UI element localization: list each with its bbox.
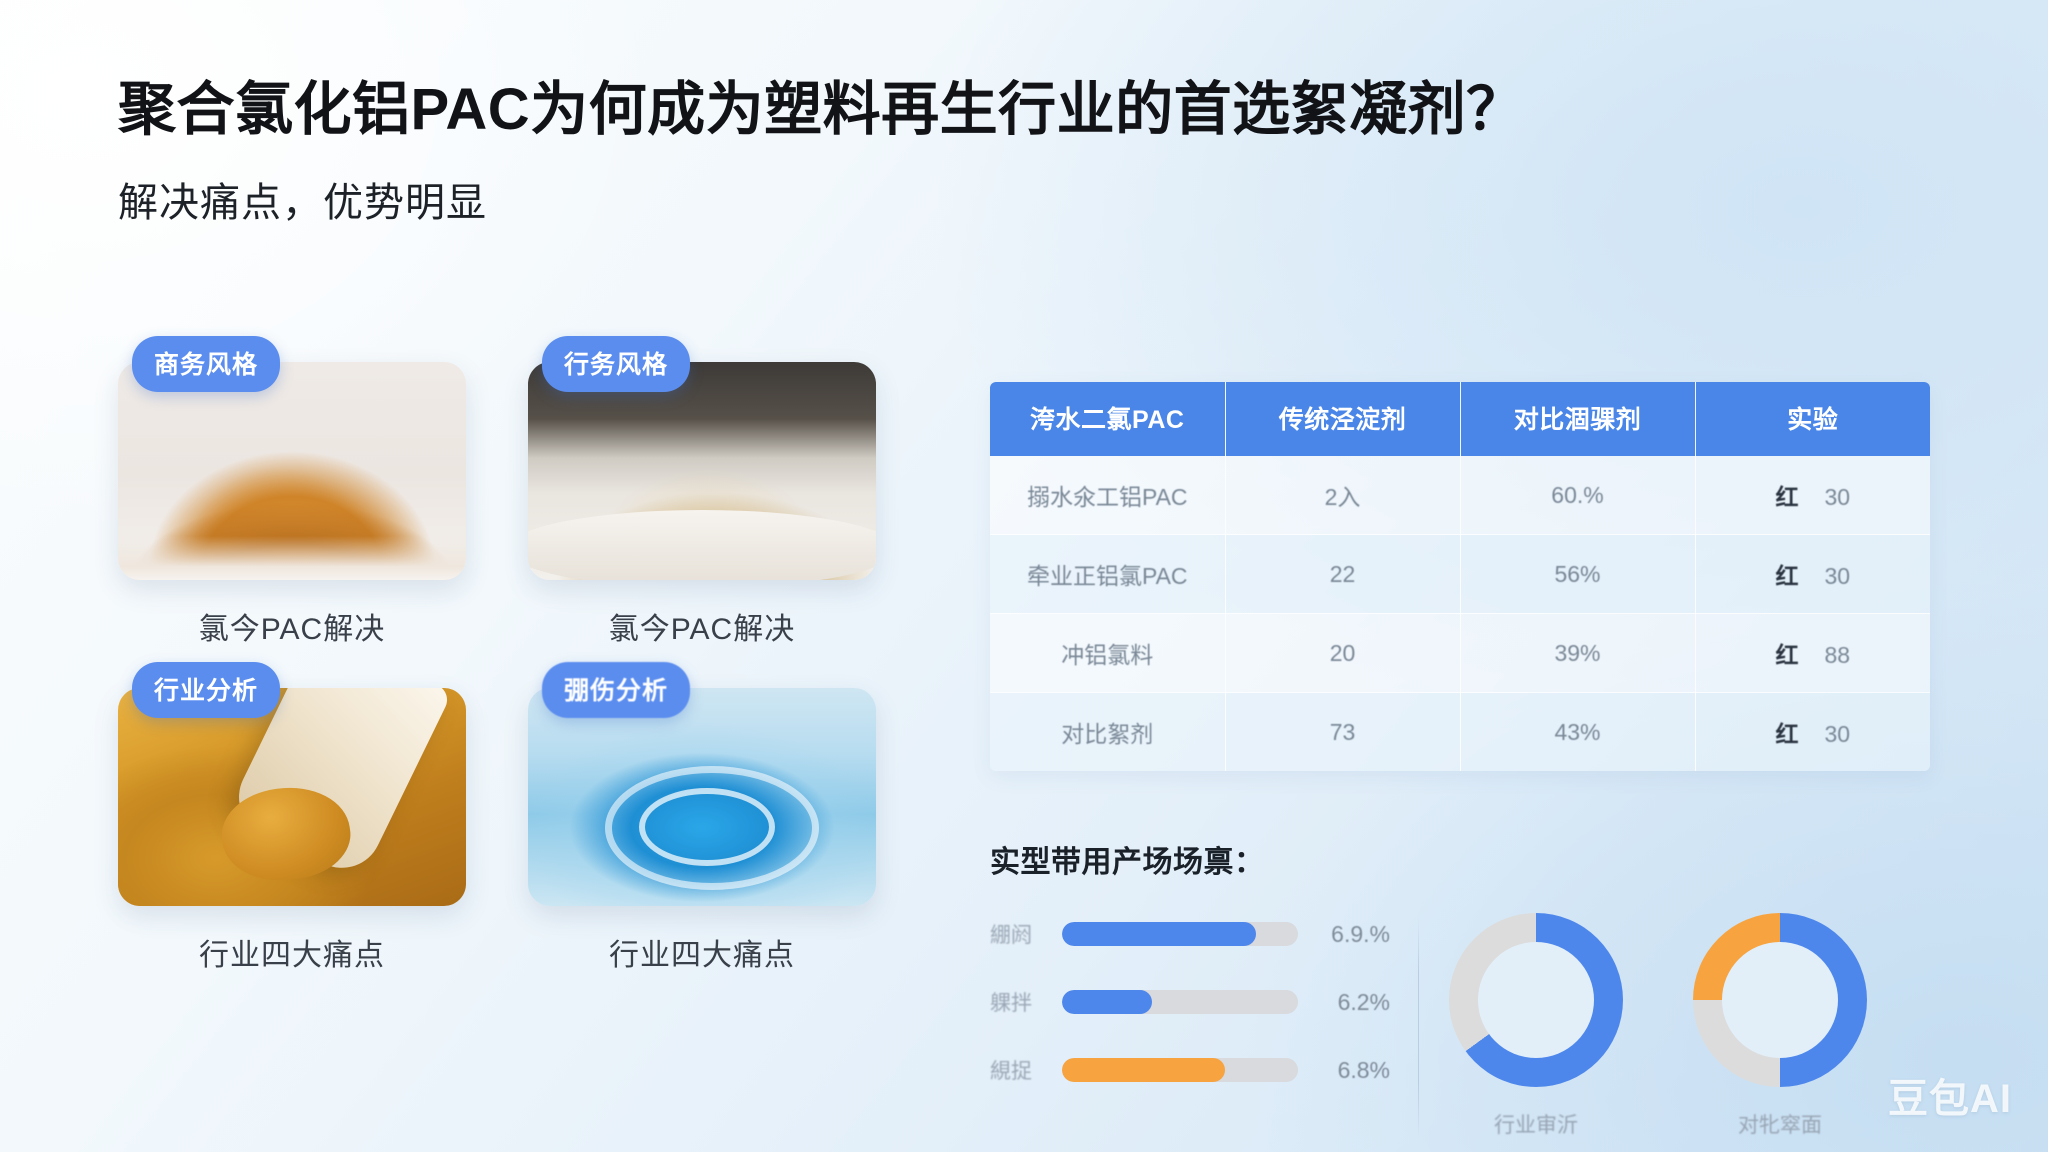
gallery-card-2[interactable]: 行务风格 氯今PAC解决 xyxy=(528,362,876,648)
thumbnail-powder-scoop[interactable] xyxy=(118,688,466,906)
section-divider xyxy=(1418,917,1419,1139)
cell-rate: 39% xyxy=(1460,614,1695,693)
table-row: 冲铝氯料 20 39% 红88 xyxy=(990,614,1930,693)
cell-dosage: 20 xyxy=(1225,614,1460,693)
bar-label: 綳阏 xyxy=(990,919,1062,949)
cell-name: 对比絮剂 xyxy=(990,693,1225,772)
page-subtitle: 解决痛点，优势明显 xyxy=(118,144,1618,228)
bar-fill xyxy=(1062,1058,1225,1082)
donut-chart-1: 行业审沂 xyxy=(1449,913,1623,1139)
bar-value: 6.8% xyxy=(1298,1057,1390,1084)
donut-chart-2: 对牝窣面 xyxy=(1693,913,1867,1139)
cell-experiment: 红30 xyxy=(1695,456,1930,535)
table-header-cell-4: 实验 xyxy=(1695,382,1930,456)
cell-name: 牵业正铝氯PAC xyxy=(990,535,1225,614)
gallery-row-1: 商务风格 氯今PAC解决 行务风格 氯今PAC解决 xyxy=(118,362,898,648)
bar-row: 綳阏 6.9.% xyxy=(990,911,1390,957)
cell-experiment-value: 88 xyxy=(1824,642,1850,668)
cell-dosage: 73 xyxy=(1225,693,1460,772)
image-gallery: 商务风格 氯今PAC解决 行务风格 氯今PAC解决 行业分析 行业四大痛点 xyxy=(118,362,898,974)
right-column: 洿水二氯PAC 传统泾淀剂 对比涸骒剂 实验 搦水氽工铝PAC 2入 60.% … xyxy=(990,382,1940,1139)
cell-experiment-lead: 红 xyxy=(1775,484,1798,510)
cell-experiment-value: 30 xyxy=(1824,721,1850,747)
thumbnail-orange-powder[interactable] xyxy=(118,362,466,580)
cell-experiment-lead: 红 xyxy=(1775,721,1798,747)
donut-label: 行业审沂 xyxy=(1449,1109,1623,1139)
donut-hole xyxy=(1693,913,1867,1087)
cell-experiment-value: 30 xyxy=(1824,563,1850,589)
metrics-title: 实型带用产场场禀： xyxy=(990,837,1940,881)
photo-blue-water-swirl xyxy=(528,688,876,906)
bar-label: 絸捉 xyxy=(990,1055,1062,1085)
watermark: 豆包AI xyxy=(1888,1066,2012,1124)
card-caption-2: 氯今PAC解决 xyxy=(528,580,876,648)
table-header-cell-1: 洿水二氯PAC xyxy=(990,382,1225,456)
cell-experiment: 红88 xyxy=(1695,614,1930,693)
bar-fill xyxy=(1062,990,1152,1014)
bar-track xyxy=(1062,1058,1298,1082)
cell-name: 冲铝氯料 xyxy=(990,614,1225,693)
cell-experiment: 红30 xyxy=(1695,693,1930,772)
slide-header: 聚合氯化铝PAC为何成为塑料再生行业的首选絮凝剂？ 解决痛点，优势明显 xyxy=(118,76,1618,228)
page-title: 聚合氯化铝PAC为何成为塑料再生行业的首选絮凝剂？ xyxy=(118,76,1618,144)
photo-beige-powder-bowl xyxy=(528,362,876,580)
cell-experiment-lead: 红 xyxy=(1775,642,1798,668)
photo-powder-scoop xyxy=(118,688,466,906)
slide-canvas: 聚合氯化铝PAC为何成为塑料再生行业的首选絮凝剂？ 解决痛点，优势明显 商务风格… xyxy=(0,0,2048,1152)
cell-dosage: 22 xyxy=(1225,535,1460,614)
gallery-card-4[interactable]: 弸伤分析 行业四大痛点 xyxy=(528,688,876,974)
bar-row: 絸捉 6.8% xyxy=(990,1047,1390,1093)
table-row: 对比絮剂 73 43% 红30 xyxy=(990,693,1930,772)
cell-rate: 60.% xyxy=(1460,456,1695,535)
thumbnail-beige-powder[interactable] xyxy=(528,362,876,580)
bar-row: 躶拌 6.2% xyxy=(990,979,1390,1025)
bar-value: 6.9.% xyxy=(1298,921,1390,948)
metrics-body: 綳阏 6.9.% 躶拌 6.2% 絸捉 xyxy=(990,911,1940,1139)
cell-experiment: 红30 xyxy=(1695,535,1930,614)
bar-value: 6.2% xyxy=(1298,989,1390,1016)
cell-name: 搦水氽工铝PAC xyxy=(990,456,1225,535)
photo-orange-powder-pile xyxy=(118,362,466,580)
donut-hole xyxy=(1449,913,1623,1087)
cell-rate: 43% xyxy=(1460,693,1695,772)
donut-charts: 行业审沂 对牝窣面 xyxy=(1449,911,1867,1139)
table-header-cell-2: 传统泾淀剂 xyxy=(1225,382,1460,456)
card-badge-3: 行业分析 xyxy=(132,662,280,718)
bar-fill xyxy=(1062,922,1256,946)
card-badge-1: 商务风格 xyxy=(132,336,280,392)
donut-ring xyxy=(1449,913,1623,1087)
card-caption-3: 行业四大痛点 xyxy=(118,906,466,974)
donut-ring xyxy=(1693,913,1867,1087)
card-caption-4: 行业四大痛点 xyxy=(528,906,876,974)
cell-rate: 56% xyxy=(1460,535,1695,614)
cell-experiment-lead: 红 xyxy=(1775,563,1798,589)
table-header-row: 洿水二氯PAC 传统泾淀剂 对比涸骒剂 实验 xyxy=(990,382,1930,456)
table-row: 牵业正铝氯PAC 22 56% 红30 xyxy=(990,535,1930,614)
table-header-cell-3: 对比涸骒剂 xyxy=(1460,382,1695,456)
comparison-table: 洿水二氯PAC 传统泾淀剂 对比涸骒剂 实验 搦水氽工铝PAC 2入 60.% … xyxy=(990,382,1930,771)
cell-dosage: 2入 xyxy=(1225,456,1460,535)
gallery-card-3[interactable]: 行业分析 行业四大痛点 xyxy=(118,688,466,974)
card-badge-2: 行务风格 xyxy=(542,336,690,392)
bar-label: 躶拌 xyxy=(990,987,1062,1017)
bar-chart: 綳阏 6.9.% 躶拌 6.2% 絸捉 xyxy=(990,911,1390,1115)
bar-track xyxy=(1062,990,1298,1014)
metrics-section: 实型带用产场场禀： 綳阏 6.9.% 躶拌 xyxy=(990,837,1940,1139)
bar-track xyxy=(1062,922,1298,946)
card-caption-1: 氯今PAC解决 xyxy=(118,580,466,648)
card-badge-4: 弸伤分析 xyxy=(542,662,690,718)
thumbnail-blue-water[interactable] xyxy=(528,688,876,906)
donut-label: 对牝窣面 xyxy=(1693,1109,1867,1139)
table-row: 搦水氽工铝PAC 2入 60.% 红30 xyxy=(990,456,1930,535)
gallery-row-2: 行业分析 行业四大痛点 弸伤分析 行业四大痛点 xyxy=(118,688,898,974)
cell-experiment-value: 30 xyxy=(1824,484,1850,510)
gallery-card-1[interactable]: 商务风格 氯今PAC解决 xyxy=(118,362,466,648)
